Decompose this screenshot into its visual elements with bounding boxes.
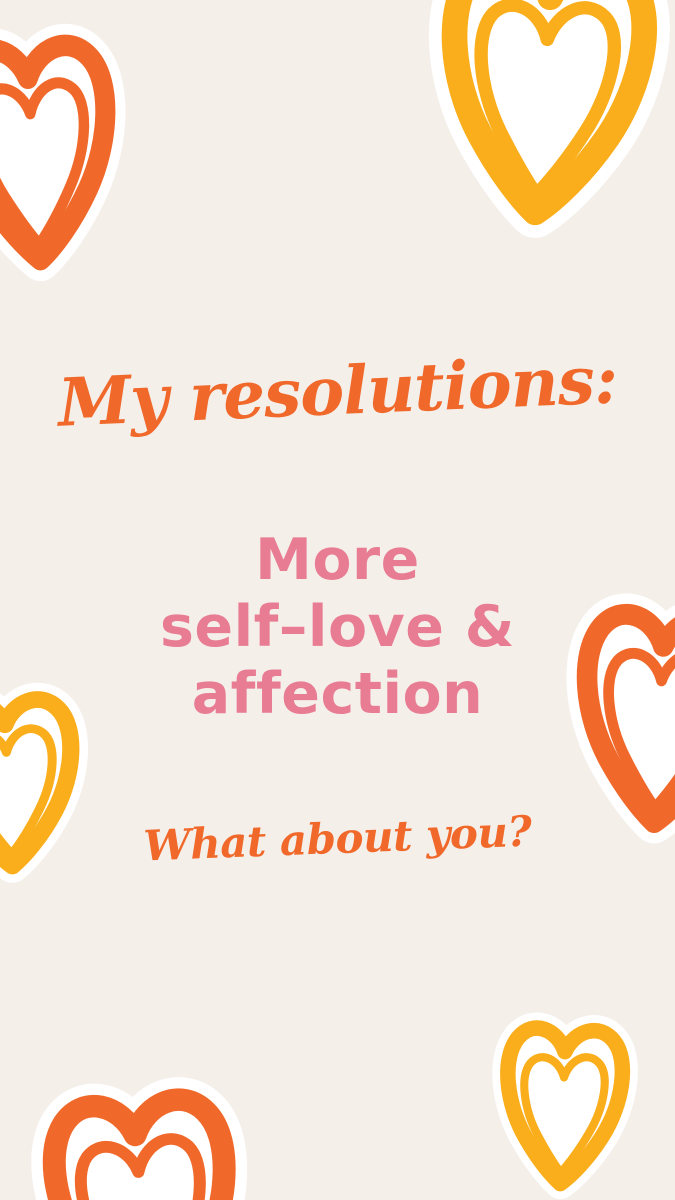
footer-question: What about you? bbox=[0, 805, 675, 873]
page-title: My resolutions: bbox=[0, 344, 675, 438]
resolution-body-text: More self–love & affection bbox=[0, 527, 675, 728]
resolution-line-2: self–love & bbox=[0, 594, 675, 661]
resolution-line-1: More bbox=[0, 527, 675, 594]
resolution-line-3: affection bbox=[0, 661, 675, 728]
text-content-layer: My resolutions: More self–love & affecti… bbox=[0, 0, 675, 1200]
story-card-canvas: My resolutions: More self–love & affecti… bbox=[0, 0, 675, 1200]
